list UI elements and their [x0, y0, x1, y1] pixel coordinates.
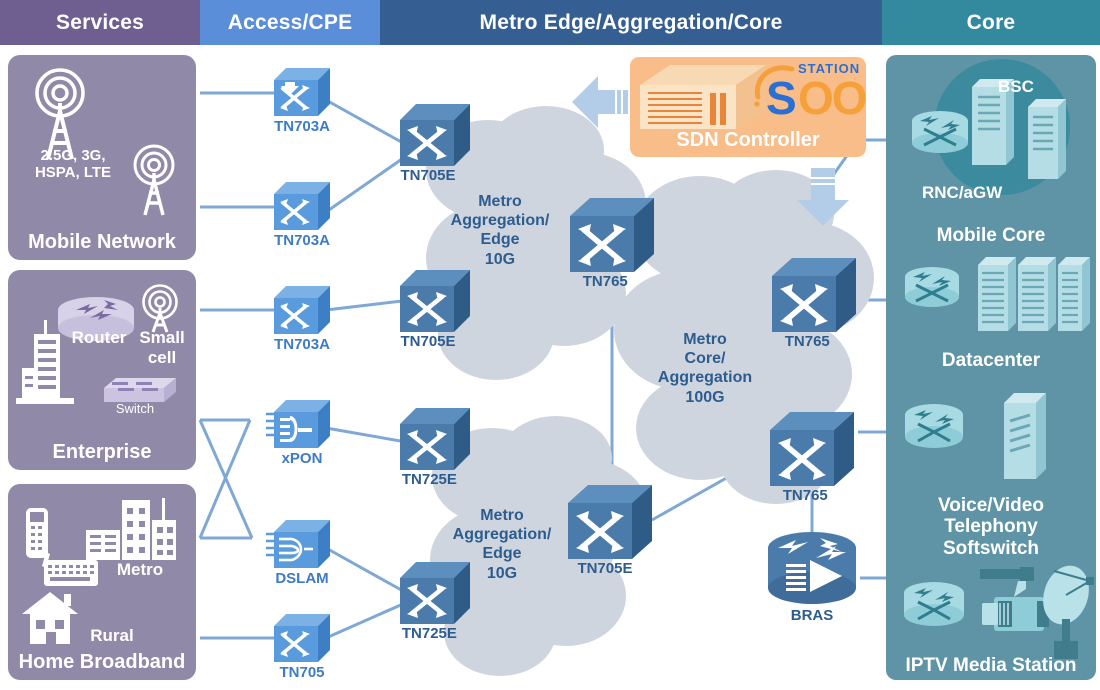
sdn-controller-caption: SDN Controller: [630, 129, 866, 152]
service-panel-mobile-network: 2.5G, 3G,HSPA, LTE Mobile Network: [8, 55, 196, 260]
server-box-icon: [640, 63, 770, 133]
core-label-bsc: BSC: [998, 77, 1034, 96]
server-rack-icon-3: [1058, 257, 1090, 331]
server-rack-icon: [978, 257, 1016, 331]
xpon-splitter-icon: [266, 400, 330, 448]
core-title-datacenter: Datacenter: [886, 350, 1096, 371]
device-tn703a-1[interactable]: TN703A: [274, 68, 330, 116]
device-bras[interactable]: BRAS: [764, 528, 860, 606]
home-broadband-title: Home Broadband: [8, 651, 196, 674]
device-tn705e-mid[interactable]: TN705E: [400, 270, 470, 332]
device-xpon[interactable]: xPON: [274, 400, 330, 448]
device-label-tn703a-3: TN703A: [274, 336, 330, 353]
switch-3d-icon: [274, 614, 330, 662]
server-rack-icon-2: [1018, 257, 1056, 331]
switch-3d-icon: [772, 258, 856, 332]
device-label-bras: BRAS: [791, 607, 834, 624]
device-tn705e-lower[interactable]: TN705E: [568, 485, 652, 559]
switch-3d-icon: [400, 562, 470, 624]
mobile-network-title: Mobile Network: [8, 231, 196, 254]
device-label-tn705e-mid: TN705E: [400, 333, 455, 350]
device-label-tn725e-bottom: TN725E: [402, 625, 457, 642]
switch-3d-icon: [274, 68, 330, 116]
enterprise-router-label: Router: [66, 328, 132, 348]
device-tn725e-bottom[interactable]: TN725E: [400, 562, 470, 624]
home-rural-label: Rural: [82, 626, 142, 646]
switch-3d-icon: [400, 104, 470, 166]
device-label-tn725e-top: TN725E: [402, 471, 457, 488]
device-tn705[interactable]: TN705: [274, 614, 330, 662]
device-label-tn705e-top: TN705E: [400, 167, 455, 184]
core-title-voice-video: Voice/VideoTelephonySoftswitch: [886, 495, 1096, 559]
logo-s-text: S: [766, 75, 797, 121]
device-label-tn705e-lower: TN705E: [577, 560, 632, 577]
service-panel-enterprise: Router Smallcell Switch Enterprise: [8, 270, 196, 470]
router-cyl-icon: [905, 267, 959, 307]
switch-3d-icon: [400, 270, 470, 332]
device-dslam[interactable]: DSLAM: [274, 520, 330, 568]
datacenter-icons: [900, 255, 1090, 345]
device-label-tn705: TN705: [279, 664, 324, 681]
arrow-left-icon: [572, 68, 636, 136]
switch-3d-icon: [770, 412, 854, 486]
arrow-down-icon: [790, 158, 856, 228]
switch-3d-icon: [274, 182, 330, 230]
bras-router-icon: [764, 528, 860, 606]
device-tn703a-2[interactable]: TN703A: [274, 182, 330, 230]
mobile-network-subtitle: 2.5G, 3G,HSPA, LTE: [18, 147, 128, 182]
server-cabinet-icon: [1004, 393, 1046, 479]
router-cyl-icon: [905, 404, 963, 448]
device-tn765-center[interactable]: TN765: [570, 198, 654, 272]
cloud-label-metro-agg-edge-top: MetroAggregation/Edge10G: [440, 192, 560, 269]
device-label-tn765-right-lower: TN765: [783, 487, 828, 504]
enterprise-title: Enterprise: [8, 441, 196, 464]
logo-oo-text: OO: [798, 75, 866, 121]
device-tn765-right-upper[interactable]: TN765: [772, 258, 856, 332]
cell-tower-small-mast-icon: [145, 173, 163, 215]
service-panel-home-broadband: Metro Rural Home Broadband: [8, 484, 196, 680]
device-label-dslam: DSLAM: [275, 570, 328, 587]
iptv-icons: [894, 565, 1094, 665]
core-title-mobile-core: Mobile Core: [886, 225, 1096, 246]
cloud-label-metro-core-agg: MetroCore/Aggregation100G: [650, 330, 760, 407]
enterprise-smallcell-label: Smallcell: [134, 328, 190, 367]
enterprise-icons: [8, 270, 196, 470]
router-cyl-icon: [912, 111, 968, 153]
device-label-tn765-center: TN765: [583, 273, 628, 290]
device-tn725e-top[interactable]: TN725E: [400, 408, 470, 470]
device-label-tn703a-2: TN703A: [274, 232, 330, 249]
core-title-iptv: IPTV Media Station: [886, 655, 1096, 676]
enterprise-switch-label: Switch: [104, 402, 166, 417]
dslam-icon: [266, 520, 330, 568]
core-label-rnc-agw: RNC/aGW: [922, 183, 1002, 202]
server-rack-icon-2: [1028, 99, 1066, 179]
voice-video-icons: [900, 385, 1090, 493]
device-label-tn703a-1: TN703A: [274, 118, 330, 135]
device-tn705e-top[interactable]: TN705E: [400, 104, 470, 166]
core-panel: BSC RNC/aGW Mobile Core: [886, 55, 1096, 680]
switch-3d-icon: [568, 485, 652, 559]
switch-3d-icon: [570, 198, 654, 272]
sdn-controller-panel[interactable]: STATION S OO SDN Controller: [630, 57, 866, 157]
home-metro-label: Metro: [104, 560, 176, 580]
switch-icon: [104, 378, 176, 402]
switch-3d-icon: [400, 408, 470, 470]
router-cyl-icon: [904, 582, 964, 626]
switch-3d-icon: [274, 286, 330, 334]
network-architecture-diagram: Services Access/CPE Metro Edge/Aggregati…: [0, 0, 1100, 686]
tv-camera-icon: [980, 567, 1049, 631]
device-label-tn765-right-upper: TN765: [785, 333, 830, 350]
device-label-xpon: xPON: [282, 450, 323, 467]
device-tn765-right-lower[interactable]: TN765: [770, 412, 854, 486]
device-tn703a-3[interactable]: TN703A: [274, 286, 330, 334]
